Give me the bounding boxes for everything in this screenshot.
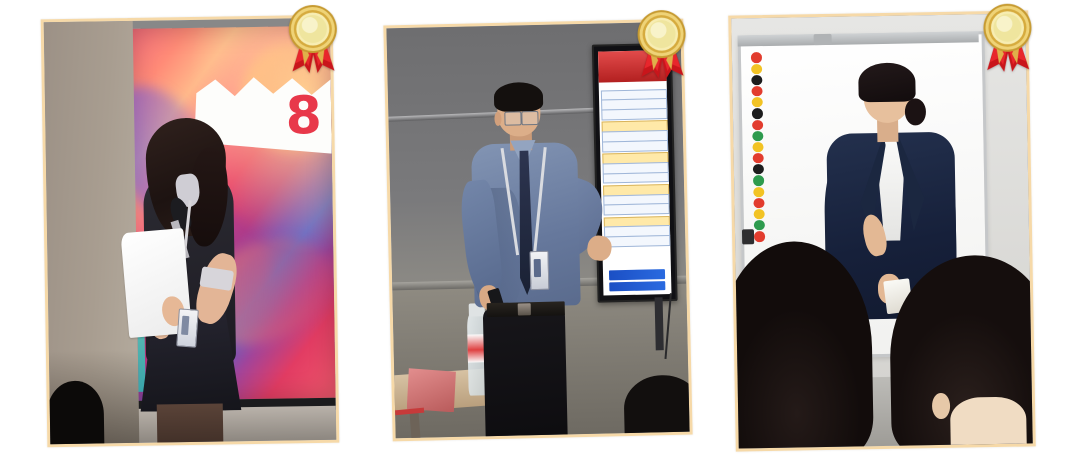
magnet-dot	[752, 131, 763, 141]
trousers	[483, 309, 568, 439]
person-speaker	[102, 120, 273, 444]
ear	[494, 112, 501, 127]
photo-card-presenter-at-whiteboard[interactable]	[728, 10, 1036, 451]
right-hand	[586, 234, 613, 263]
photo-card-presenter-with-microphone[interactable]: 8	[41, 15, 340, 448]
audience-ear	[932, 393, 950, 419]
magnet-dot	[751, 64, 762, 74]
legs	[157, 404, 224, 444]
magnet-dot	[751, 75, 762, 85]
hair	[858, 63, 916, 103]
neck	[877, 120, 899, 141]
belt-buckle	[517, 304, 531, 316]
magnet-dot	[754, 198, 765, 208]
audience-shoulder	[950, 396, 1027, 448]
scene-conference-led-screen: 8	[44, 18, 337, 444]
photo-image-3	[731, 13, 1032, 448]
magnet-dot	[752, 108, 763, 118]
id-badge	[176, 308, 199, 348]
magnet-dot	[753, 164, 764, 174]
glasses-left-lens	[504, 111, 522, 126]
magnet-dot	[751, 52, 762, 62]
whiteboard-eraser	[742, 229, 754, 244]
magnet-dot	[752, 86, 763, 96]
hair	[493, 82, 543, 112]
magnet-dot	[752, 97, 763, 107]
magnet-dot	[753, 187, 764, 197]
person-speaker	[440, 77, 619, 439]
photo-card-presenter-at-vertical-display[interactable]	[383, 19, 692, 442]
magnet-dot	[753, 142, 764, 152]
magnet-dot	[754, 209, 765, 219]
glasses-right-lens	[521, 111, 539, 126]
photo-image-1: 8	[44, 18, 337, 444]
magnet-dot	[752, 120, 763, 130]
photo-image-2	[386, 22, 689, 439]
magnet-dot	[754, 231, 765, 241]
whiteboard-clip	[814, 34, 832, 45]
display-stand	[654, 297, 664, 350]
screen-number-label: 8	[285, 90, 320, 143]
magnet-dot	[753, 176, 764, 186]
id-badge	[530, 251, 550, 290]
scene-classroom-whiteboard	[731, 13, 1032, 448]
magnet-dot	[753, 153, 764, 163]
scene-training-room	[386, 22, 689, 439]
photo-gallery: 8	[0, 0, 1080, 464]
magnet-dot	[754, 220, 765, 230]
hair-bun	[905, 99, 927, 126]
